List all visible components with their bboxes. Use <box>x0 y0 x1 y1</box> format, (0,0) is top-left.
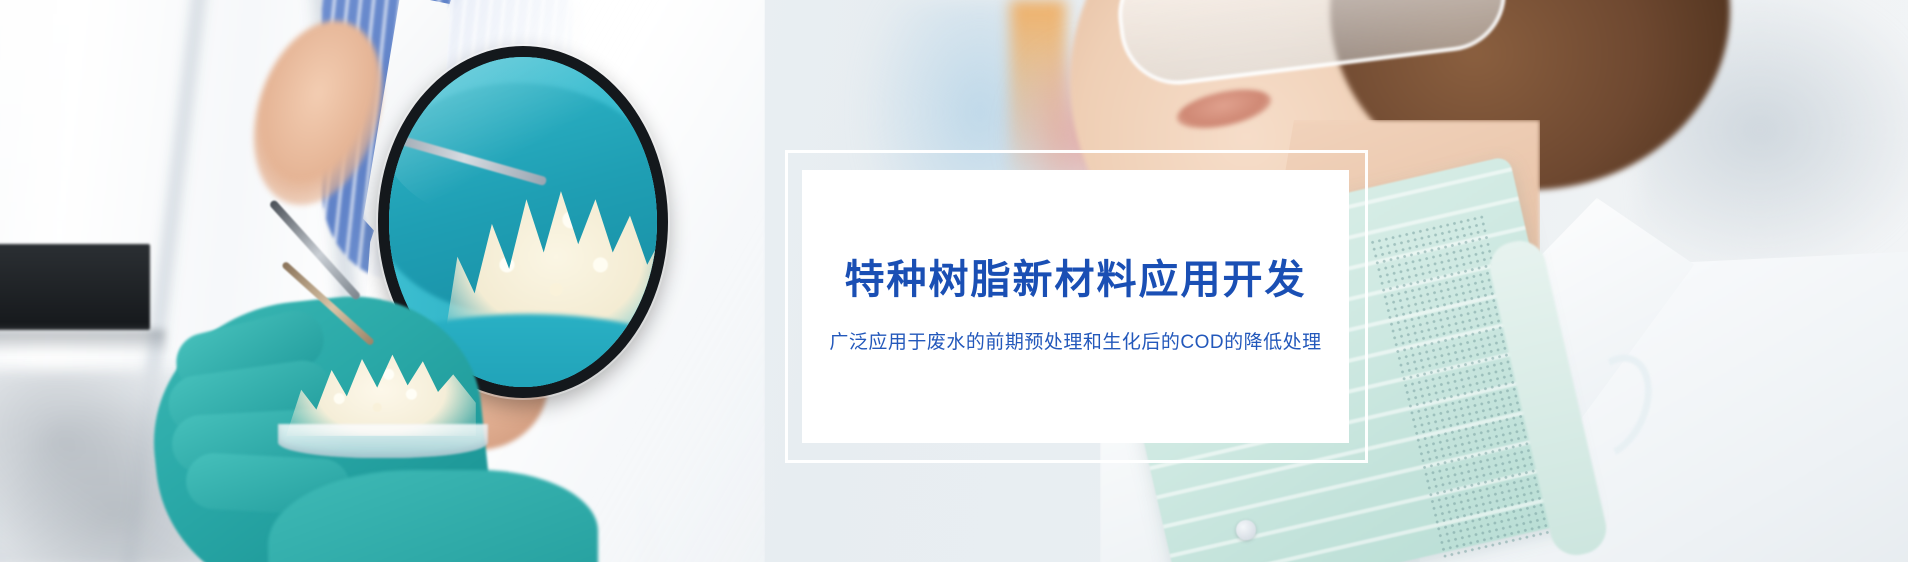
woman-coat-button <box>1236 520 1256 540</box>
hero-banner: 特种树脂新材料应用开发 广泛应用于废水的前期预处理和生化后的COD的降低处理 <box>0 0 1908 562</box>
instrument-shadow <box>0 330 165 354</box>
banner-subheadline: 广泛应用于废水的前期预处理和生化后的COD的降低处理 <box>829 330 1321 357</box>
dark-instrument-block <box>0 244 150 330</box>
panel-content: 特种树脂新材料应用开发 广泛应用于废水的前期预处理和生化后的COD的降低处理 <box>802 170 1349 443</box>
banner-text-panel: 特种树脂新材料应用开发 广泛应用于废水的前期预处理和生化后的COD的降低处理 <box>785 150 1368 463</box>
banner-headline: 特种树脂新材料应用开发 <box>845 256 1307 304</box>
petri-dish <box>278 424 488 458</box>
